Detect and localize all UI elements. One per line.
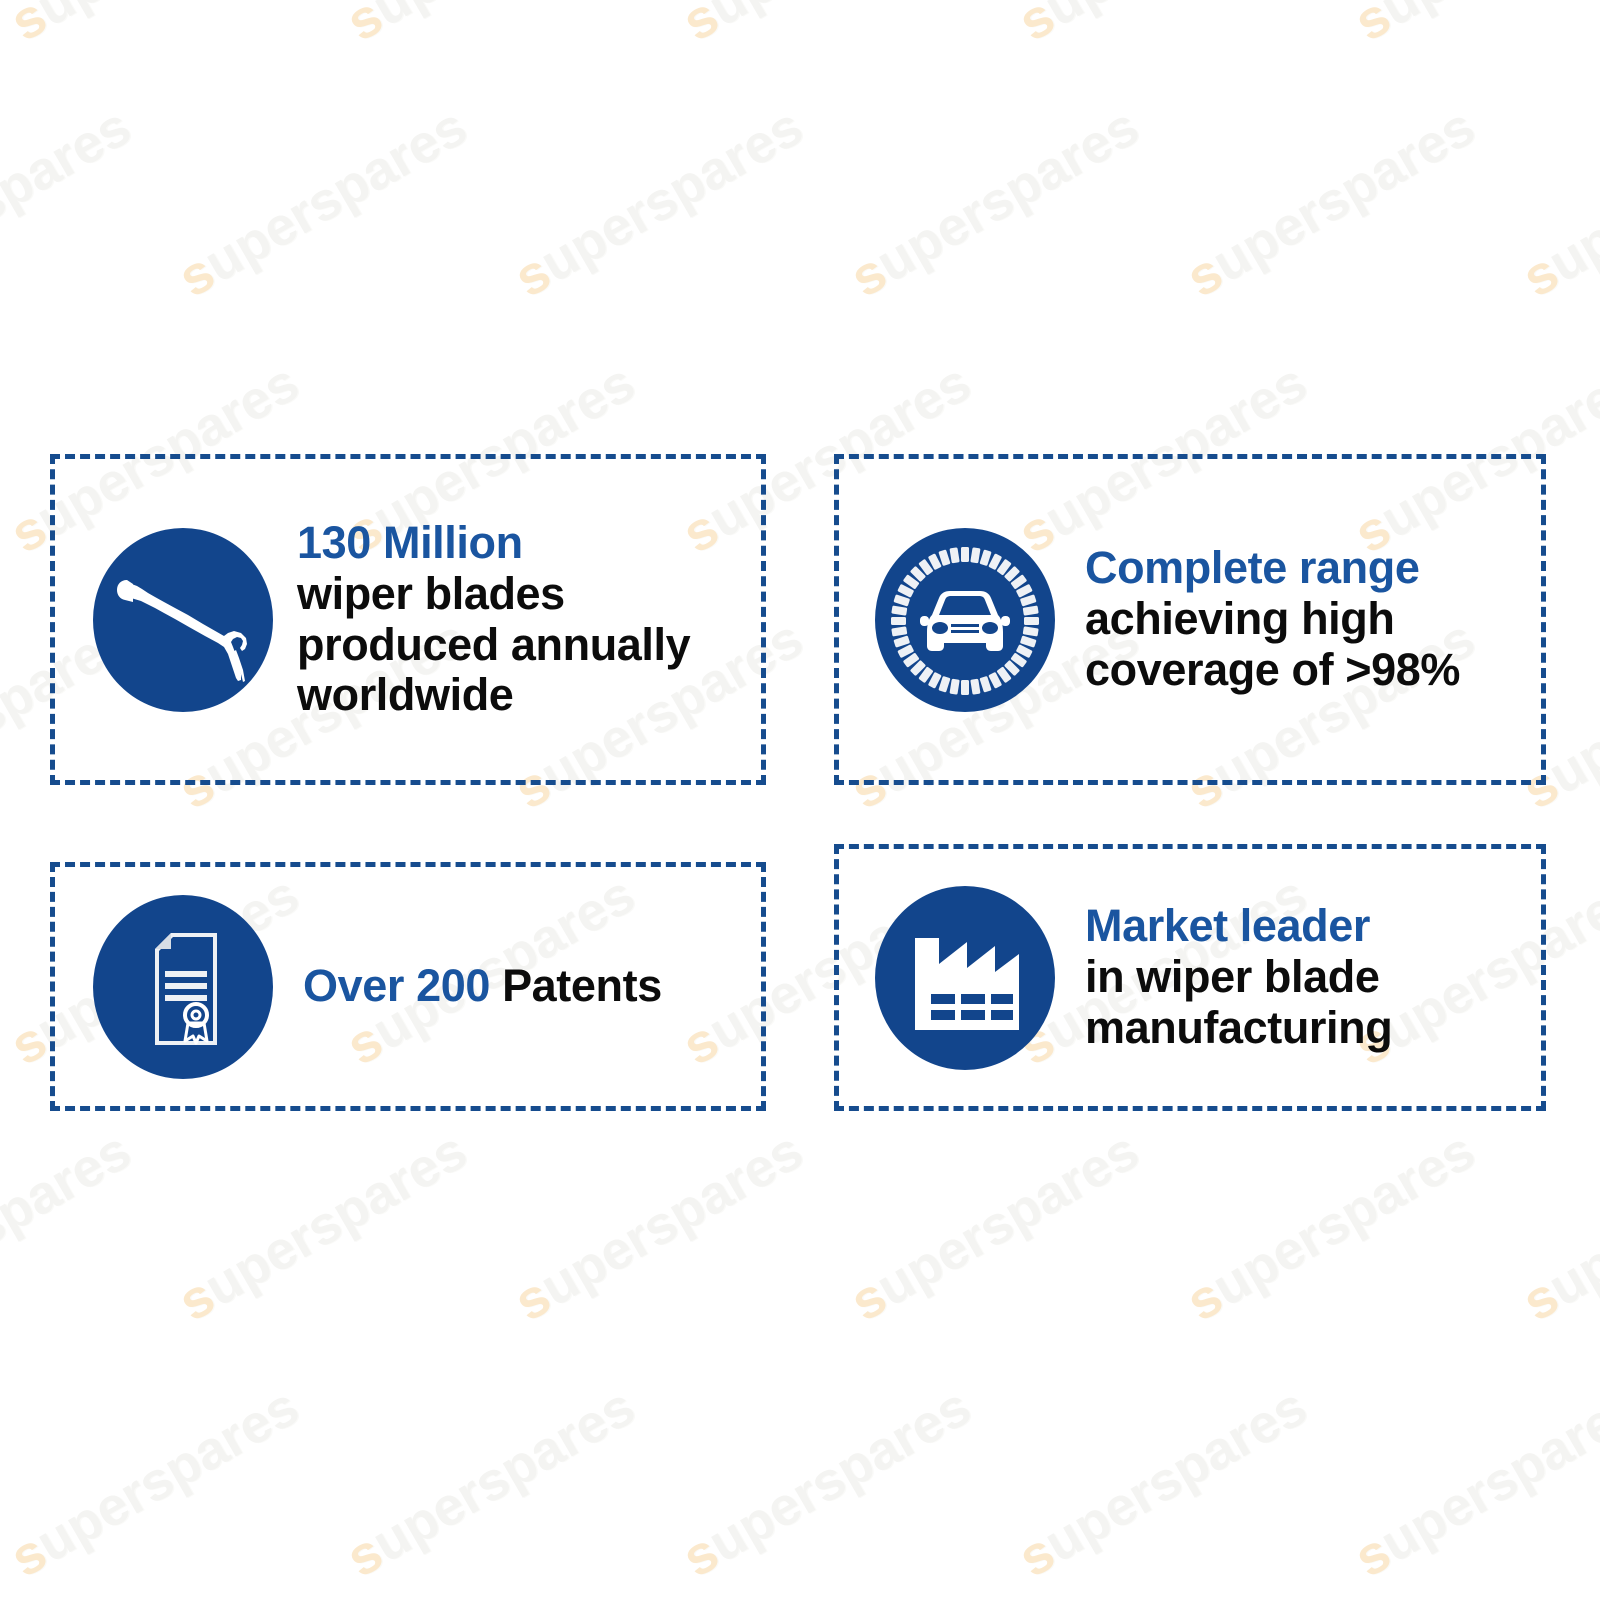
fact-card-text: Over 200 Patents [281,961,761,1012]
watermark-text: superspares [1176,1119,1485,1333]
watermark-text: superspares [0,0,309,54]
fact-line-3: worldwide [297,670,751,721]
fact-card-patents-count: Over 200 Patents [50,862,766,1111]
watermark-text: superspares [672,0,981,54]
watermark-text: superspares [1008,0,1317,54]
watermark-text: superspares [1344,1375,1600,1589]
car-in-dashed-ring-icon [867,522,1063,718]
watermark-text: superspares [336,1375,645,1589]
fact-card-complete-range-coverage: Complete range achieving high coverage o… [834,454,1546,785]
facts-card-grid: 130 Million wiper blades produced annual… [50,454,1546,1111]
fact-line-1: achieving high [1085,594,1531,645]
watermark-text: superspares [0,1375,309,1589]
watermark-text: superspares [1344,0,1600,54]
watermark-text: superspares [1512,1119,1600,1333]
fact-inline-row: Over 200 Patents [303,961,751,1012]
fact-highlight: Over 200 [303,960,490,1011]
watermark-text: superspares [504,95,813,309]
watermark-text: superspares [1176,95,1485,309]
watermark-text: superspares [168,95,477,309]
wiper-blade-icon [85,522,281,718]
fact-highlight: Complete range [1085,543,1531,594]
fact-line-1: wiper blades [297,569,751,620]
watermark-text: superspares [840,95,1149,309]
fact-line-1: Patents [502,960,662,1011]
factory-icon [867,880,1063,1076]
patent-certificate-icon [85,889,281,1085]
fact-highlight: 130 Million [297,518,751,569]
fact-line-2: produced annually [297,620,751,671]
watermark-text: superspares [0,95,141,309]
fact-card-text: Complete range achieving high coverage o… [1063,543,1541,696]
fact-highlight: Market leader [1085,901,1531,952]
fact-line-1: in wiper blade [1085,952,1531,1003]
fact-card-text: Market leader in wiper blade manufacturi… [1063,901,1541,1054]
fact-line-2: coverage of >98% [1085,645,1531,696]
fact-line-2: manufacturing [1085,1003,1531,1054]
fact-card-wiper-blades-produced: 130 Million wiper blades produced annual… [50,454,766,785]
fact-card-market-leader-manufacturing: Market leader in wiper blade manufacturi… [834,844,1546,1111]
watermark-text: superspares [840,1119,1149,1333]
watermark-text: superspares [504,1119,813,1333]
watermark-text: superspares [0,1119,141,1333]
watermark-text: superspares [336,0,645,54]
fact-card-text: 130 Million wiper blades produced annual… [281,518,761,721]
watermark-text: superspares [672,1375,981,1589]
watermark-text: superspares [168,1119,477,1333]
watermark-text: superspares [1512,95,1600,309]
watermark-text: superspares [1008,1375,1317,1589]
